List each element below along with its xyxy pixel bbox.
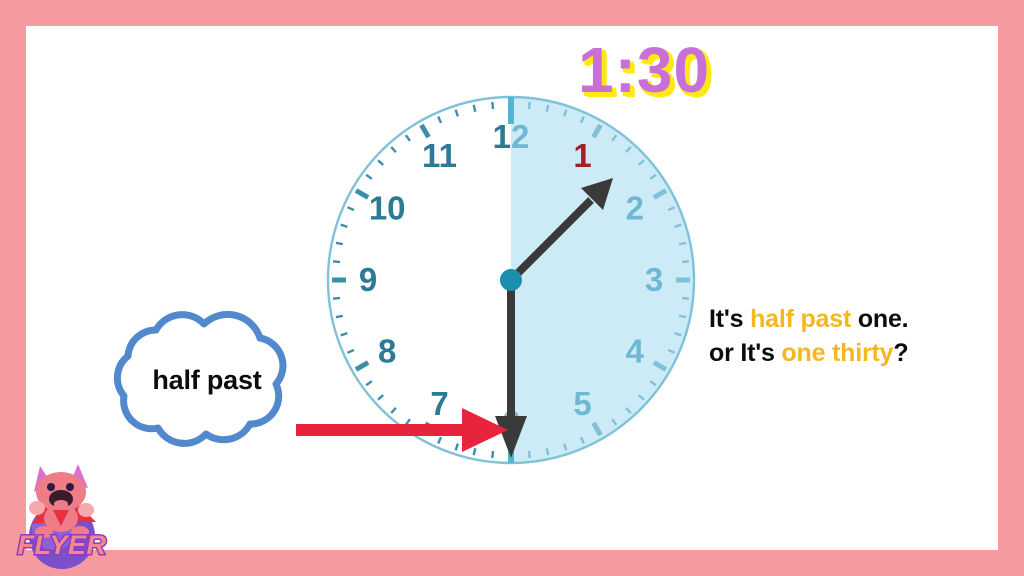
clock-tick-minor: [336, 243, 343, 244]
line2-part2: ?: [893, 339, 908, 367]
cloud-label: half past: [84, 300, 324, 460]
line2-part1: or It's: [709, 339, 781, 367]
clock-tick-minor: [474, 105, 475, 112]
clock-tick-minor: [547, 105, 548, 112]
clock-numeral-9: 9: [359, 261, 377, 298]
clock-numeral-12: 12: [493, 118, 530, 155]
flyer-logo-svg: FLYER: [4, 458, 120, 572]
logo-arm-left: [29, 501, 45, 515]
clock-tick-minor: [682, 298, 689, 299]
clock-numeral-3: 3: [645, 261, 663, 298]
line1-highlight: half past: [750, 305, 851, 333]
pointer-arrow: [296, 406, 508, 454]
clock-tick-minor: [333, 261, 340, 262]
slide-frame: 1:30 121234567891011: [0, 0, 1024, 576]
clock-numeral-11: 11: [422, 137, 457, 174]
logo-arm-right: [78, 503, 94, 517]
sentence-line-1: It's half past one.: [709, 303, 1009, 337]
line1-part2: one.: [851, 305, 908, 333]
clock-tick-minor: [333, 298, 340, 299]
speech-cloud: half past: [84, 300, 324, 460]
clock-center-pivot: [500, 269, 522, 291]
digital-time-label: 1:30: [578, 38, 710, 102]
logo-eye-left: [47, 483, 55, 491]
clock-tick-minor: [492, 102, 493, 109]
clock-tick-minor: [679, 243, 686, 244]
pointer-arrow-svg: [296, 406, 508, 454]
logo-eye-right: [66, 483, 74, 491]
logo-wordmark: FLYER: [18, 530, 107, 560]
flyer-logo: FLYER: [4, 458, 120, 572]
clock-numeral-8: 8: [378, 333, 396, 370]
line2-highlight: one thirty: [781, 339, 893, 367]
clock-tick-minor: [547, 448, 548, 455]
clock-tick-minor: [529, 102, 530, 109]
clock-tick-minor: [682, 261, 689, 262]
clock-tick-minor: [679, 316, 686, 317]
sentence-line-2: or It's one thirty?: [709, 337, 1009, 371]
clock-numeral-5: 5: [573, 385, 591, 422]
explanation-text: It's half past one. or It's one thirty?: [709, 303, 1009, 371]
clock-shaded-half: [511, 94, 697, 466]
clock-tick-minor: [529, 451, 530, 458]
clock-numeral-4: 4: [626, 333, 645, 370]
clock-tick-minor: [336, 316, 343, 317]
clock-numeral-1: 1: [573, 137, 591, 174]
clock-numeral-2: 2: [626, 190, 644, 227]
clock-numeral-10: 10: [369, 190, 406, 227]
line1-part1: It's: [709, 305, 750, 333]
